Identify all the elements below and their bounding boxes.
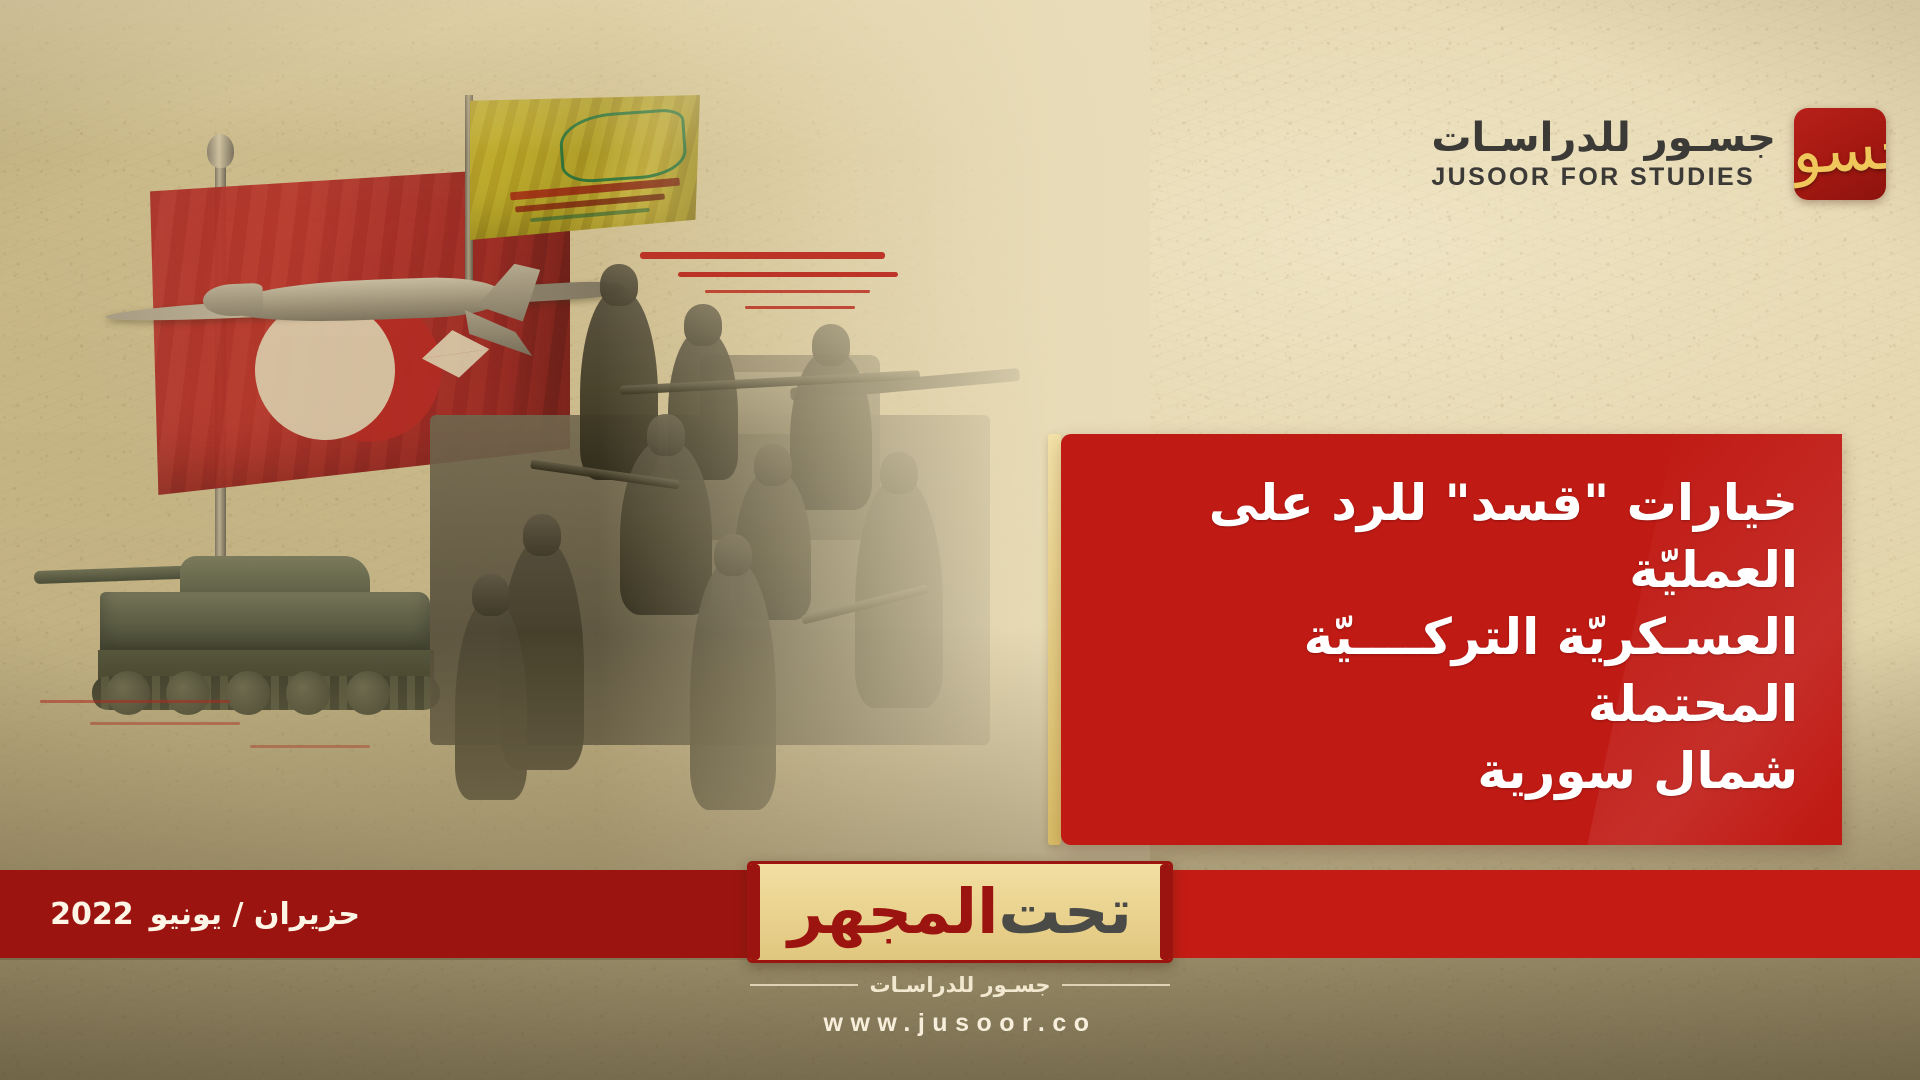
title-line-1: خيارات "قسد" للرد على العمليّة <box>1105 470 1798 604</box>
plate-side-tab-right <box>1160 864 1173 960</box>
divider-rule-left <box>1062 984 1170 986</box>
report-title-box: خيارات "قسد" للرد على العمليّة العسـكريّ… <box>1061 434 1842 845</box>
brand-name-arabic: جسـور للدراسـات <box>1431 118 1776 158</box>
publisher-name: جسـور للدراسـات <box>870 973 1051 997</box>
page-title: خيارات "قسد" للرد على العمليّة العسـكريّ… <box>1105 470 1798 805</box>
jusoor-logo-badge[interactable]: جسور <box>1794 108 1886 200</box>
title-line-3: شمال سورية <box>1105 738 1798 805</box>
publisher-line: جسـور للدراسـات <box>750 973 1170 997</box>
date-year: 2022 <box>50 897 134 932</box>
masthead-logo[interactable]: جسور جسـور للدراسـات JUSOOR FOR STUDIES <box>1431 108 1886 200</box>
series-title-prefix: تحت <box>998 881 1132 943</box>
series-title-highlight: المجهر <box>788 881 998 943</box>
series-emblem[interactable]: تحت المجهر جسـور للدراسـات www.jusoor.co <box>730 861 1190 1038</box>
report-title-block: خيارات "قسد" للرد على العمليّة العسـكريّ… <box>1042 434 1842 845</box>
brand-name-english: JUSOOR FOR STUDIES <box>1431 165 1755 190</box>
publication-date: حزيران / يونيو 2022 <box>50 870 360 958</box>
divider-rule-right <box>750 984 858 986</box>
brand-wordmark: جسـور للدراسـات JUSOOR FOR STUDIES <box>1431 118 1776 190</box>
report-cover-poster: جسور جسـور للدراسـات JUSOOR FOR STUDIES … <box>0 0 1920 1080</box>
plate-side-tab-left <box>747 864 760 960</box>
title-line-2: العسـكريّة التركــــيّة المحتملة <box>1105 604 1798 738</box>
jusoor-calligraphy-icon: جسور <box>1794 115 1886 185</box>
date-month: حزيران / يونيو <box>150 897 360 932</box>
website-url[interactable]: www.jusoor.co <box>824 1009 1097 1038</box>
series-name-plate: تحت المجهر <box>747 861 1173 963</box>
title-gold-accent-bar <box>1048 434 1061 845</box>
series-title: تحت المجهر <box>788 881 1132 943</box>
